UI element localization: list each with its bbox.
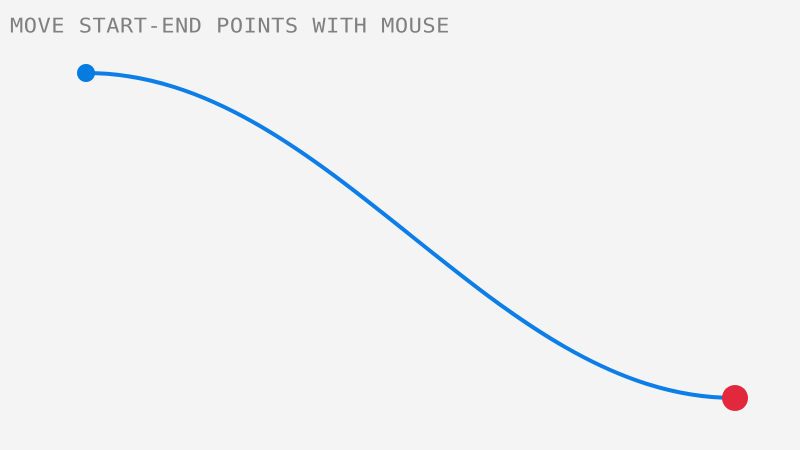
bezier-curve <box>86 73 735 398</box>
app-root: MOVE START-END POINTS WITH MOUSE <box>0 0 800 450</box>
end-point-handle[interactable] <box>722 385 748 411</box>
start-point-handle[interactable] <box>77 64 95 82</box>
page-title: MOVE START-END POINTS WITH MOUSE <box>10 17 450 37</box>
bezier-scene <box>0 0 800 450</box>
curve-canvas[interactable] <box>0 0 800 450</box>
